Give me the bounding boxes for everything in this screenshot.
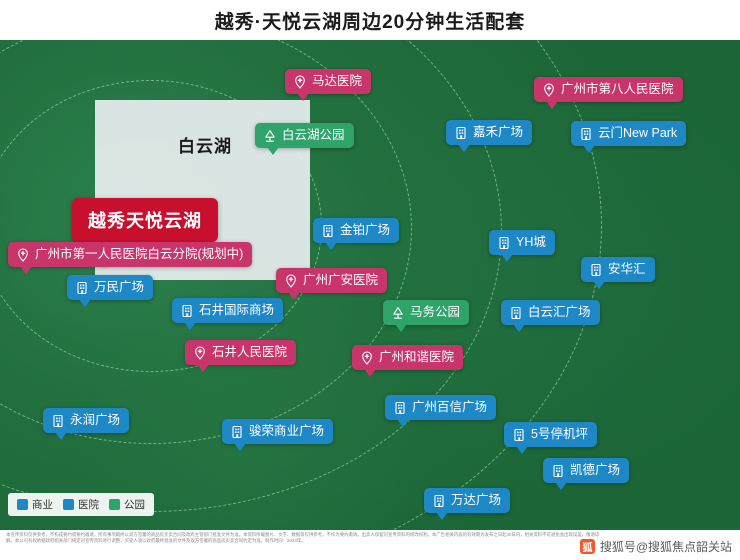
page-header: 越秀·天悦云湖周边20分钟生活配套	[0, 0, 740, 40]
legend-label-business: 商业	[32, 497, 53, 512]
poi-label: 广州百信广场	[412, 401, 487, 414]
poi-chip[interactable]: 嘉禾广场	[446, 120, 532, 145]
hospital-pin-icon	[541, 82, 556, 97]
poi-label: 白云汇广场	[528, 306, 591, 319]
poi-label: 马务公园	[410, 306, 460, 319]
poi-chip[interactable]: 广州市第八人民医院	[534, 77, 683, 102]
poi-chip[interactable]: 云门New Park	[571, 121, 686, 146]
legend-item-hospital: 医院	[63, 497, 99, 512]
poi-label: 嘉禾广场	[473, 126, 523, 139]
poi-chip[interactable]: 石井国际商场	[172, 298, 283, 323]
building-icon	[392, 400, 407, 415]
watermark-label: 搜狐号@搜狐焦点韶关站	[600, 538, 732, 555]
building-icon	[578, 126, 593, 141]
disclaimer-text: 本宣传资料仅供参考，不构成要约或要约邀请，所有事项最终以双方签署的商品房买卖合同…	[6, 532, 606, 545]
poi-label: 广州和谐医院	[379, 351, 454, 364]
building-icon	[50, 413, 65, 428]
map-canvas[interactable]: 白云湖 越秀天悦云湖 马达医院广州市第八人民医院白云湖公园嘉禾广场云门New P…	[0, 40, 740, 530]
building-icon	[588, 262, 603, 277]
hospital-pin-icon	[15, 247, 30, 262]
page-title: 越秀·天悦云湖周边20分钟生活配套	[215, 7, 525, 34]
building-icon	[431, 493, 446, 508]
poi-label: 永润广场	[70, 414, 120, 427]
poi-chip[interactable]: 广州广安医院	[276, 268, 387, 293]
building-icon	[508, 305, 523, 320]
legend: 商业 医院 公园	[8, 493, 154, 516]
watermark: 狐 搜狐号@搜狐焦点韶关站	[580, 538, 732, 555]
page-footer: 本宣传资料仅供参考，不构成要约或要约邀请，所有事项最终以双方签署的商品房买卖合同…	[0, 530, 740, 560]
poi-chip[interactable]: 马达医院	[285, 69, 371, 94]
poi-label: 凯德广场	[570, 464, 620, 477]
poi-label: YH城	[516, 236, 546, 249]
poi-chip[interactable]: 白云汇广场	[501, 300, 600, 325]
poi-label: 万达广场	[451, 494, 501, 507]
hospital-pin-icon	[292, 74, 307, 89]
poi-chip[interactable]: 永润广场	[43, 408, 129, 433]
poi-label: 广州市第一人民医院白云分院(规划中)	[35, 248, 243, 261]
building-icon	[496, 235, 511, 250]
poi-chip[interactable]: 白云湖公园	[255, 123, 354, 148]
building-icon	[179, 303, 194, 318]
poi-label: 马达医院	[312, 75, 362, 88]
legend-item-business: 商业	[17, 497, 53, 512]
building-icon	[453, 125, 468, 140]
hospital-pin-icon	[192, 345, 207, 360]
poi-chip[interactable]: 马务公园	[383, 300, 469, 325]
poi-chip[interactable]: 广州百信广场	[385, 395, 496, 420]
building-icon	[550, 463, 565, 478]
poi-chip[interactable]: 石井人民医院	[185, 340, 296, 365]
building-icon	[74, 280, 89, 295]
poi-label: 石井国际商场	[199, 304, 274, 317]
poi-chip[interactable]: 金铂广场	[313, 218, 399, 243]
park-icon	[390, 305, 405, 320]
sohu-logo-icon: 狐	[580, 539, 595, 554]
poi-chip[interactable]: 安华汇	[581, 257, 655, 282]
hospital-pin-icon	[359, 350, 374, 365]
legend-label-park: 公园	[124, 497, 145, 512]
poi-chip[interactable]: 广州市第一人民医院白云分院(规划中)	[8, 242, 252, 267]
estate-callout[interactable]: 越秀天悦云湖	[72, 198, 218, 242]
poi-label: 广州市第八人民医院	[561, 83, 674, 96]
poi-label: 广州广安医院	[303, 274, 378, 287]
poi-label: 骏荣商业广场	[249, 425, 324, 438]
poi-label: 安华汇	[608, 263, 646, 276]
legend-label-hospital: 医院	[78, 497, 99, 512]
legend-swatch-hospital	[63, 499, 74, 510]
poi-label: 万民广场	[94, 281, 144, 294]
lake-label: 白云湖	[178, 132, 232, 157]
building-icon	[511, 427, 526, 442]
poi-chip[interactable]: 凯德广场	[543, 458, 629, 483]
legend-swatch-park	[109, 499, 120, 510]
building-icon	[229, 424, 244, 439]
poi-chip[interactable]: 骏荣商业广场	[222, 419, 333, 444]
poi-label: 白云湖公园	[282, 129, 345, 142]
poi-label: 云门New Park	[598, 127, 677, 140]
building-icon	[320, 223, 335, 238]
poi-chip[interactable]: 广州和谐医院	[352, 345, 463, 370]
legend-item-park: 公园	[109, 497, 145, 512]
hospital-pin-icon	[283, 273, 298, 288]
poi-chip[interactable]: YH城	[489, 230, 555, 255]
poi-label: 石井人民医院	[212, 346, 287, 359]
poi-chip[interactable]: 5号停机坪	[504, 422, 597, 447]
legend-swatch-business	[17, 499, 28, 510]
poi-label: 5号停机坪	[531, 428, 588, 441]
poi-chip[interactable]: 万达广场	[424, 488, 510, 513]
screenshot-root: 越秀·天悦云湖周边20分钟生活配套 白云湖 越秀天悦云湖 马达医院广州市第八人民…	[0, 0, 740, 560]
park-icon	[262, 128, 277, 143]
poi-label: 金铂广场	[340, 224, 390, 237]
poi-chip[interactable]: 万民广场	[67, 275, 153, 300]
